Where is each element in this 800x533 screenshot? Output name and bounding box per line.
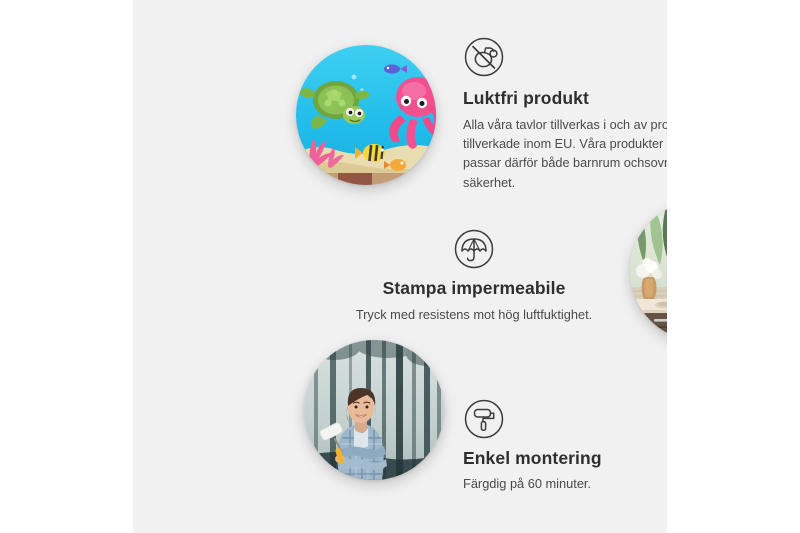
feature-description: Alla våra tavlor tillverkas i och av pro…	[463, 116, 667, 193]
feature-block-waterproof: Stampa impermeabile Tryck med resistens …	[329, 228, 619, 324]
feature-panel: Luktfri produkt Alla våra tavlor tillver…	[133, 0, 667, 533]
feature-block-easy-mounting: Enkel montering Färgdig på 60 minuter.	[463, 398, 667, 493]
screenshot-canvas: Luktfri produkt Alla våra tavlor tillver…	[0, 0, 800, 533]
feature-title: Enkel montering	[463, 448, 667, 470]
feature-block-odour-free: Luktfri produkt Alla våra tavlor tillver…	[463, 36, 667, 193]
product-photo-bathroom[interactable]	[630, 201, 667, 341]
paint-roller-icon	[463, 398, 505, 440]
feature-description: Tryck med resistens mot hög luftfuktighe…	[329, 305, 619, 324]
umbrella-icon	[453, 228, 495, 270]
feature-title: Stampa impermeabile	[329, 278, 619, 300]
no-fragrance-spray-icon	[463, 36, 505, 78]
feature-description: Färgdig på 60 minuter.	[463, 474, 667, 493]
product-photo-forest-installer[interactable]	[304, 340, 444, 480]
product-photo-underwater[interactable]	[296, 45, 436, 185]
feature-title: Luktfri produkt	[463, 88, 667, 110]
